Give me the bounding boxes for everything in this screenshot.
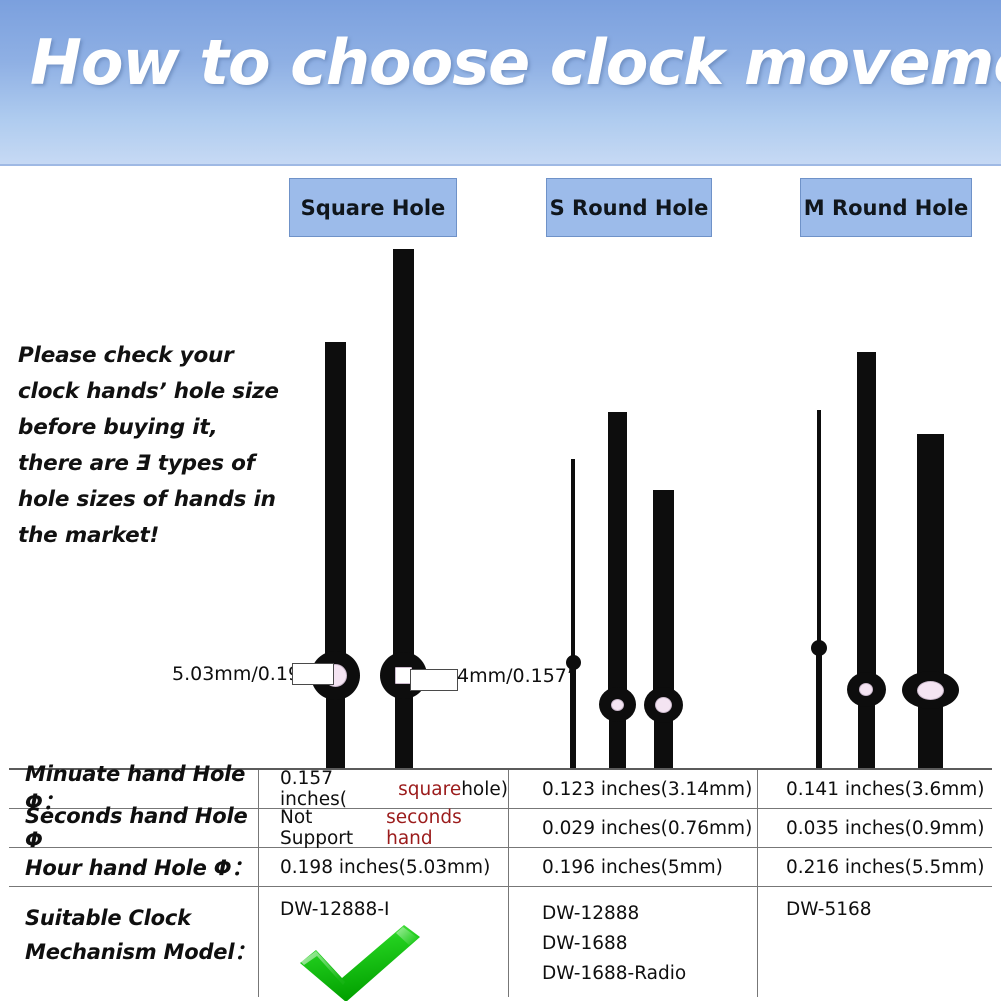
row-label: Hour hand Hole Φ： bbox=[9, 848, 258, 886]
row-label-line1: Suitable Clock bbox=[25, 906, 191, 930]
column-header-label: M Round Hole bbox=[804, 196, 969, 220]
spec-table: Minuate hand Hole Φ： 0.157 inches(square… bbox=[9, 768, 992, 1001]
hand-c1-minute-shaft bbox=[393, 249, 414, 673]
infographic-page: How to choose clock movement? Square Hol… bbox=[0, 0, 1001, 1001]
cell-m-round-hole: 0.216 inches(5.5mm) bbox=[757, 848, 992, 886]
cell-m-round-models: DW-5168 bbox=[757, 887, 992, 997]
page-title: How to choose clock movement? bbox=[30, 26, 980, 99]
hand-c1-hour-shaft bbox=[325, 342, 346, 672]
hand-c3-seconds-hub bbox=[811, 640, 827, 656]
hand-c3-seconds-shaft bbox=[817, 410, 821, 649]
cell-m-round-hole: 0.035 inches(0.9mm) bbox=[757, 809, 992, 847]
table-row: Hour hand Hole Φ： 0.198 inches(5.03mm) 0… bbox=[9, 848, 992, 887]
hand-c3-hour-shaft bbox=[917, 434, 944, 688]
cell-square-hole: 0.157 inches(square hole) bbox=[258, 770, 508, 808]
cell-text-pre: 0.157 inches( bbox=[280, 768, 398, 810]
column-header-square-hole: Square Hole bbox=[289, 178, 457, 237]
model-list-s-round: DW-12888 DW-1688 DW-1688-Radio bbox=[542, 899, 686, 989]
cell-s-round-models: DW-12888 DW-1688 DW-1688-Radio bbox=[508, 887, 757, 997]
row-label: Seconds hand Hole Φ bbox=[9, 809, 258, 847]
cell-square-hole: Not Support seconds hand bbox=[258, 809, 508, 847]
cell-text-emphasis: seconds hand bbox=[386, 807, 508, 849]
cell-s-round-hole: 0.196 inches(5mm) bbox=[508, 848, 757, 886]
cell-m-round-hole: 0.141 inches(3.6mm) bbox=[757, 770, 992, 808]
recommended-check-icon bbox=[296, 923, 424, 1001]
cell-square-hole: 0.198 inches(5.03mm) bbox=[258, 848, 508, 886]
hand-c3-seconds-tail bbox=[816, 649, 822, 768]
table-row: Seconds hand Hole Φ Not Support seconds … bbox=[9, 809, 992, 848]
hour-hand-hole-callout-leader bbox=[292, 663, 334, 685]
column-header-m-round-hole: M Round Hole bbox=[800, 178, 972, 237]
table-row-models: Suitable Clock Mechanism Model： DW-12888… bbox=[9, 887, 992, 997]
cell-s-round-hole: 0.123 inches(3.14mm) bbox=[508, 770, 757, 808]
hand-c3-hour-hole-round bbox=[917, 681, 944, 700]
column-header-s-round-hole: S Round Hole bbox=[546, 178, 712, 237]
cell-text-post: hole) bbox=[461, 779, 508, 800]
hand-c2-hour-shaft bbox=[653, 490, 674, 703]
hand-c3-minute-hole-round bbox=[859, 683, 873, 696]
cell-text-emphasis: square bbox=[398, 779, 461, 800]
hand-c2-hour-hole-round bbox=[655, 697, 672, 713]
intro-paragraph: Please check your clock hands’ hole size… bbox=[18, 338, 280, 554]
cell-s-round-hole: 0.029 inches(0.76mm) bbox=[508, 809, 757, 847]
row-label: Minuate hand Hole Φ： bbox=[9, 770, 258, 808]
cell-text-pre: Not Support bbox=[280, 807, 386, 849]
hand-c2-minute-shaft bbox=[608, 412, 627, 703]
hand-c2-seconds-shaft bbox=[571, 459, 575, 664]
minute-hand-hole-callout-label: 4mm/0.157” bbox=[457, 665, 577, 687]
hand-c2-minute-hole-round bbox=[611, 699, 624, 711]
cell-text-pre: 0.198 inches(5.03mm) bbox=[280, 857, 490, 878]
column-header-label: S Round Hole bbox=[550, 196, 709, 220]
header-banner: How to choose clock movement? bbox=[0, 0, 1001, 166]
minute-hand-hole-callout-leader bbox=[410, 669, 458, 691]
row-label-line2: Mechanism Model： bbox=[25, 940, 255, 964]
hand-c3-minute-shaft bbox=[857, 352, 876, 688]
column-header-label: Square Hole bbox=[301, 196, 446, 220]
row-label-models: Suitable Clock Mechanism Model： bbox=[9, 887, 258, 997]
